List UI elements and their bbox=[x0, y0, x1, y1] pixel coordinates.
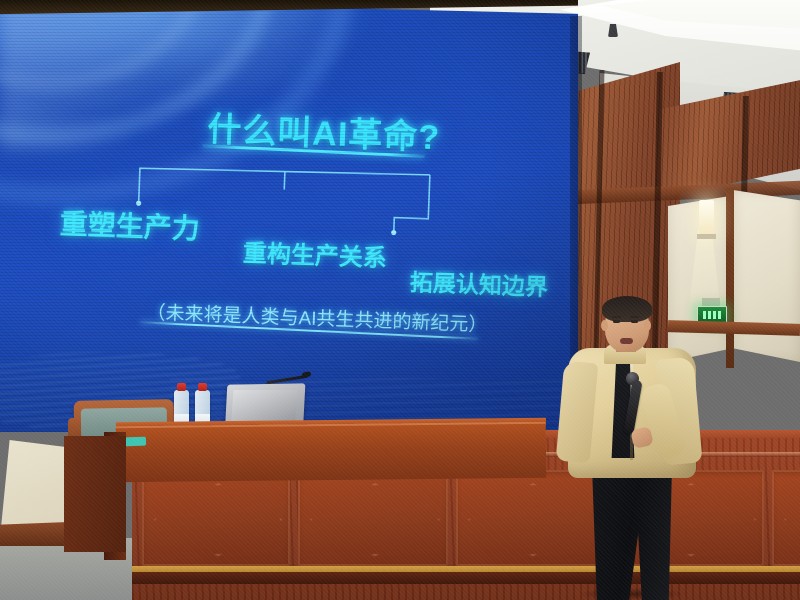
presenter bbox=[556, 300, 716, 600]
presenter-ear bbox=[644, 320, 651, 331]
stage-panel bbox=[298, 470, 448, 566]
presenter-eye bbox=[631, 320, 638, 323]
stage-panel-diamond-inlay bbox=[310, 484, 441, 557]
stage-panel bbox=[142, 470, 290, 566]
wall-seam bbox=[741, 96, 749, 196]
wall-panel-divider bbox=[726, 188, 734, 368]
chair-teal-accent bbox=[124, 437, 146, 447]
projection-screen: 什么叫AI革命? 重塑生产力 重构生产关系 拓展认知边界 （未来将是人类与AI共… bbox=[0, 0, 578, 432]
screenshot-root: 什么叫AI革命? 重塑生产力 重构生产关系 拓展认知边界 （未来将是人类与AI共… bbox=[0, 0, 800, 600]
presenter-hair bbox=[602, 296, 652, 322]
podium-desk bbox=[116, 422, 547, 482]
presenter-eyebrow bbox=[630, 316, 639, 318]
wall-sconce-light-icon bbox=[699, 200, 714, 234]
wall-panel-cream-right bbox=[733, 190, 800, 362]
presenter-eye bbox=[613, 320, 620, 323]
wall-sconce-bracket bbox=[697, 234, 716, 239]
screen-scanlines bbox=[0, 0, 578, 432]
presenter-eyebrow bbox=[612, 316, 621, 318]
stage-panel-diamond-inlay bbox=[154, 484, 283, 557]
stage-panel-diamond-inlay bbox=[784, 484, 800, 557]
presenter-mouth bbox=[620, 338, 633, 344]
bottle-cap bbox=[198, 383, 207, 391]
stage-panel bbox=[772, 470, 800, 566]
bottle-cap bbox=[177, 383, 186, 391]
podium-side bbox=[64, 436, 126, 552]
presenter-ear bbox=[601, 320, 608, 331]
